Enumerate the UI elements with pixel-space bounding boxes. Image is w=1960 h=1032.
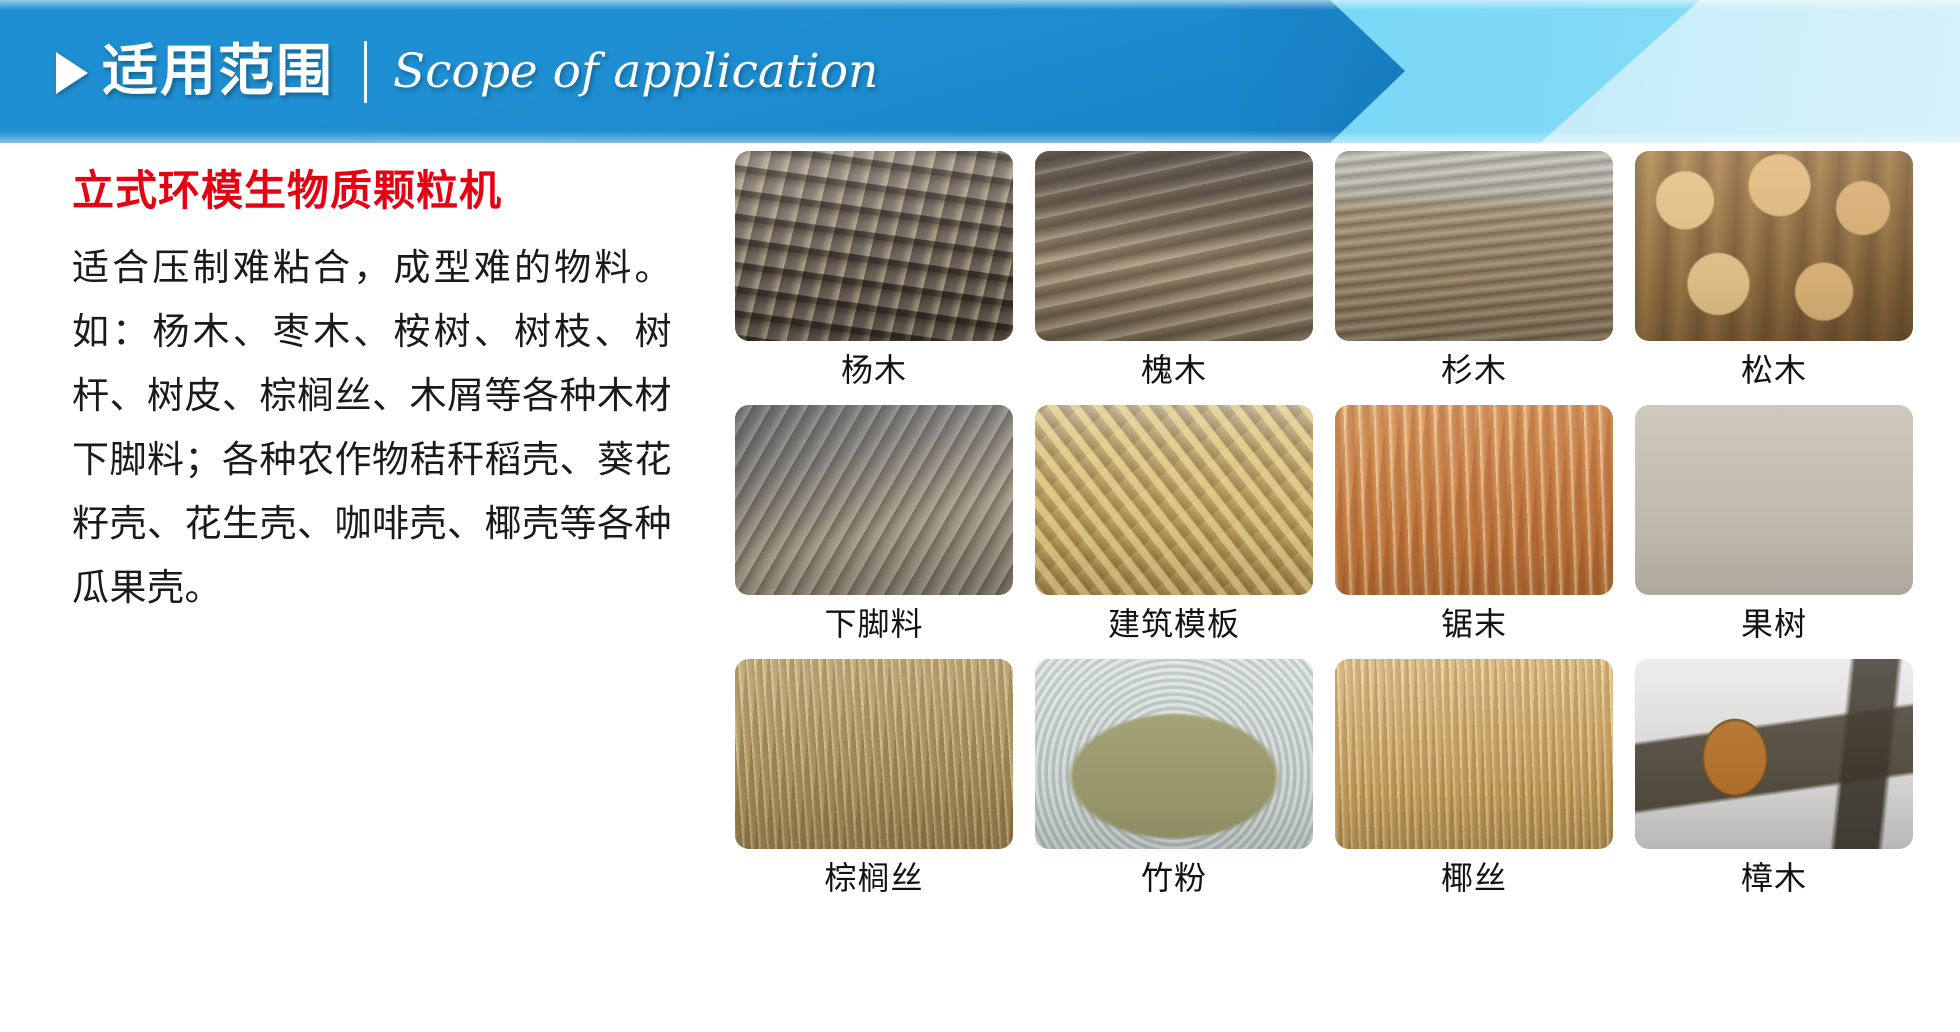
grid-item[interactable]: 棕榈丝 xyxy=(735,659,1013,911)
photo-pine-log-ends xyxy=(1635,151,1913,341)
grid-item[interactable]: 樟木 xyxy=(1635,659,1913,911)
grid-item[interactable]: 建筑模板 xyxy=(1035,405,1313,657)
thumbnail-image[interactable] xyxy=(1035,405,1313,595)
grid-item-caption: 竹粉 xyxy=(1141,861,1207,896)
photo-fruit-tree-wood xyxy=(1635,405,1913,595)
thumbnail-image[interactable] xyxy=(1335,151,1613,341)
thumbnail-image[interactable] xyxy=(735,405,1013,595)
grid-item-caption: 果树 xyxy=(1741,607,1807,642)
photo-construction-formwork xyxy=(1035,405,1313,595)
thumbnail-image[interactable] xyxy=(735,151,1013,341)
photo-sawdust xyxy=(1335,405,1613,595)
grid-item[interactable]: 松木 xyxy=(1635,151,1913,403)
grid-item[interactable]: 杉木 xyxy=(1335,151,1613,403)
product-description: 适合压制难粘合，成型难的物料。如：杨木、枣木、桉树、树枝、树杆、树皮、棕榈丝、木… xyxy=(72,236,672,620)
photo-coconut-coir xyxy=(1335,659,1613,849)
header-title-cn: 适用范围 xyxy=(102,44,334,100)
photo-locust-branches xyxy=(1035,151,1313,341)
photo-camphor-logs xyxy=(1635,659,1913,849)
thumbnail-image[interactable] xyxy=(1035,151,1313,341)
product-title: 立式环模生物质颗粒机 xyxy=(72,165,692,218)
grid-item-caption: 杨木 xyxy=(841,353,907,388)
photo-palm-fibre xyxy=(735,659,1013,849)
grid-item-caption: 锯末 xyxy=(1441,607,1507,642)
grid-item-caption: 松木 xyxy=(1741,353,1807,388)
grid-item-caption: 棕榈丝 xyxy=(824,861,923,896)
grid-item-caption: 下脚料 xyxy=(824,607,923,642)
thumbnail-image[interactable] xyxy=(1635,151,1913,341)
thumbnail-image[interactable] xyxy=(1035,659,1313,849)
grid-item[interactable]: 锯末 xyxy=(1335,405,1613,657)
header-title-en: Scope of application xyxy=(393,48,878,95)
page-header-banner: 适用范围 Scope of application xyxy=(0,0,1960,143)
grid-item[interactable]: 果树 xyxy=(1635,405,1913,657)
header-divider xyxy=(364,41,367,103)
material-image-grid: 杨木 槐木 杉木 松木 xyxy=(735,151,1915,911)
grid-item-caption: 槐木 xyxy=(1141,353,1207,388)
left-text-column: 立式环模生物质颗粒机 适合压制难粘合，成型难的物料。如：杨木、枣木、桉树、树枝、… xyxy=(72,165,692,620)
thumbnail-image[interactable] xyxy=(1635,659,1913,849)
photo-bamboo-powder xyxy=(1035,659,1313,849)
thumbnail-image[interactable] xyxy=(1335,659,1613,849)
header-content: 适用范围 Scope of application xyxy=(56,0,878,143)
play-triangle-icon xyxy=(56,52,88,94)
grid-item-caption: 樟木 xyxy=(1741,861,1807,896)
slide-page: 适用范围 Scope of application 立式环模生物质颗粒机 适合压… xyxy=(0,0,1960,1032)
grid-item-caption: 杉木 xyxy=(1441,353,1507,388)
grid-item-caption: 建筑模板 xyxy=(1108,607,1240,642)
grid-item[interactable]: 椰丝 xyxy=(1335,659,1613,911)
grid-item[interactable]: 槐木 xyxy=(1035,151,1313,403)
page-body: 立式环模生物质颗粒机 适合压制难粘合，成型难的物料。如：杨木、枣木、桉树、树枝、… xyxy=(0,143,1960,1032)
grid-item[interactable]: 杨木 xyxy=(735,151,1013,403)
thumbnail-image[interactable] xyxy=(1635,405,1913,595)
thumbnail-image[interactable] xyxy=(735,659,1013,849)
photo-poplar-logs xyxy=(735,151,1013,341)
photo-warehouse-scrap xyxy=(735,405,1013,595)
grid-item-caption: 椰丝 xyxy=(1441,861,1507,896)
grid-item[interactable]: 下脚料 xyxy=(735,405,1013,657)
photo-fir-poles xyxy=(1335,151,1613,341)
grid-item[interactable]: 竹粉 xyxy=(1035,659,1313,911)
thumbnail-image[interactable] xyxy=(1335,405,1613,595)
